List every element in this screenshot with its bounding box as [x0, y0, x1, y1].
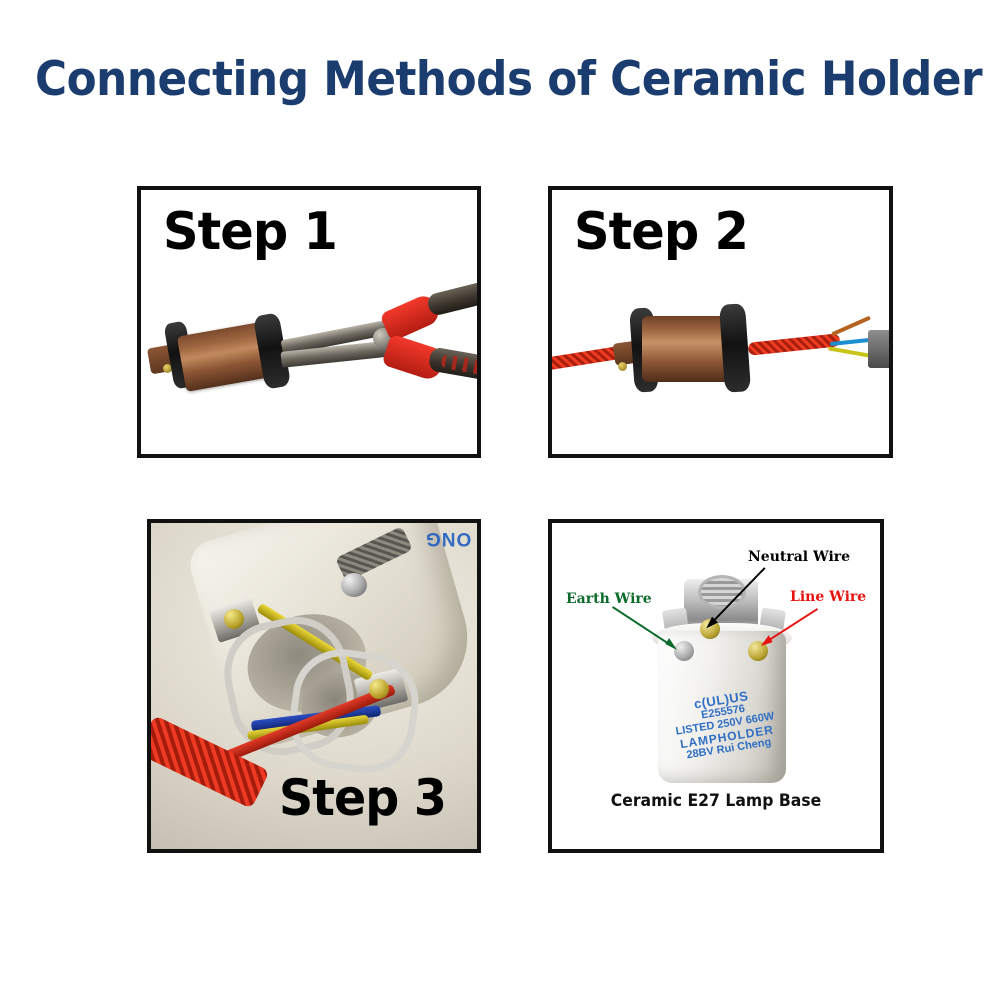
earth-terminal	[674, 641, 694, 661]
step-1-photo: Step 1	[141, 190, 477, 454]
step-2-illustration	[552, 282, 889, 432]
ceramic-base-neck	[868, 330, 893, 368]
panel-lamp-base-diagram: c(UL)US E255576 LISTED 250V 660W LAMPHOL…	[548, 519, 884, 853]
step-1-illustration	[141, 280, 477, 430]
copper-holder-body	[642, 316, 732, 382]
brass-screw-right-icon	[369, 679, 389, 699]
brass-screw-left-icon	[224, 609, 244, 629]
label-earth-wire: Earth Wire	[566, 591, 652, 607]
page-title: Connecting Methods of Ceramic Holder	[35, 52, 965, 107]
label-neutral-wire: Neutral Wire	[748, 549, 850, 565]
line-terminal	[748, 641, 768, 661]
step-1-label: Step 1	[163, 202, 337, 262]
grey-ceramic-base	[892, 314, 893, 384]
step-2-label: Step 2	[574, 202, 748, 262]
lamp-base-photo: c(UL)US E255576 LISTED 250V 660W LAMPHOL…	[552, 523, 880, 849]
panel-step-2: Step 2	[548, 186, 893, 458]
brass-screw-icon	[618, 362, 627, 371]
neutral-terminal	[700, 619, 720, 639]
wire-lead-brown	[831, 316, 871, 337]
ceramic-brand-print: ONG	[425, 527, 471, 549]
holder-rubber-ring-right	[719, 303, 751, 393]
plier-handle-upper	[426, 269, 481, 317]
wire-lead-green-yellow	[828, 346, 870, 357]
step-3-photo: ONG Step 3	[151, 523, 477, 849]
panel-step-3: ONG Step 3	[147, 519, 481, 853]
step-3-label: Step 3	[279, 769, 446, 827]
panel-step-1: Step 1	[137, 186, 481, 458]
lamp-base-caption: Ceramic E27 Lamp Base	[565, 791, 867, 811]
earth-screw-icon	[341, 573, 367, 597]
step-2-photo: Step 2	[552, 190, 889, 454]
lamp-thread	[698, 575, 746, 609]
label-line-wire: Line Wire	[790, 589, 866, 605]
braided-cable-right	[748, 333, 841, 356]
